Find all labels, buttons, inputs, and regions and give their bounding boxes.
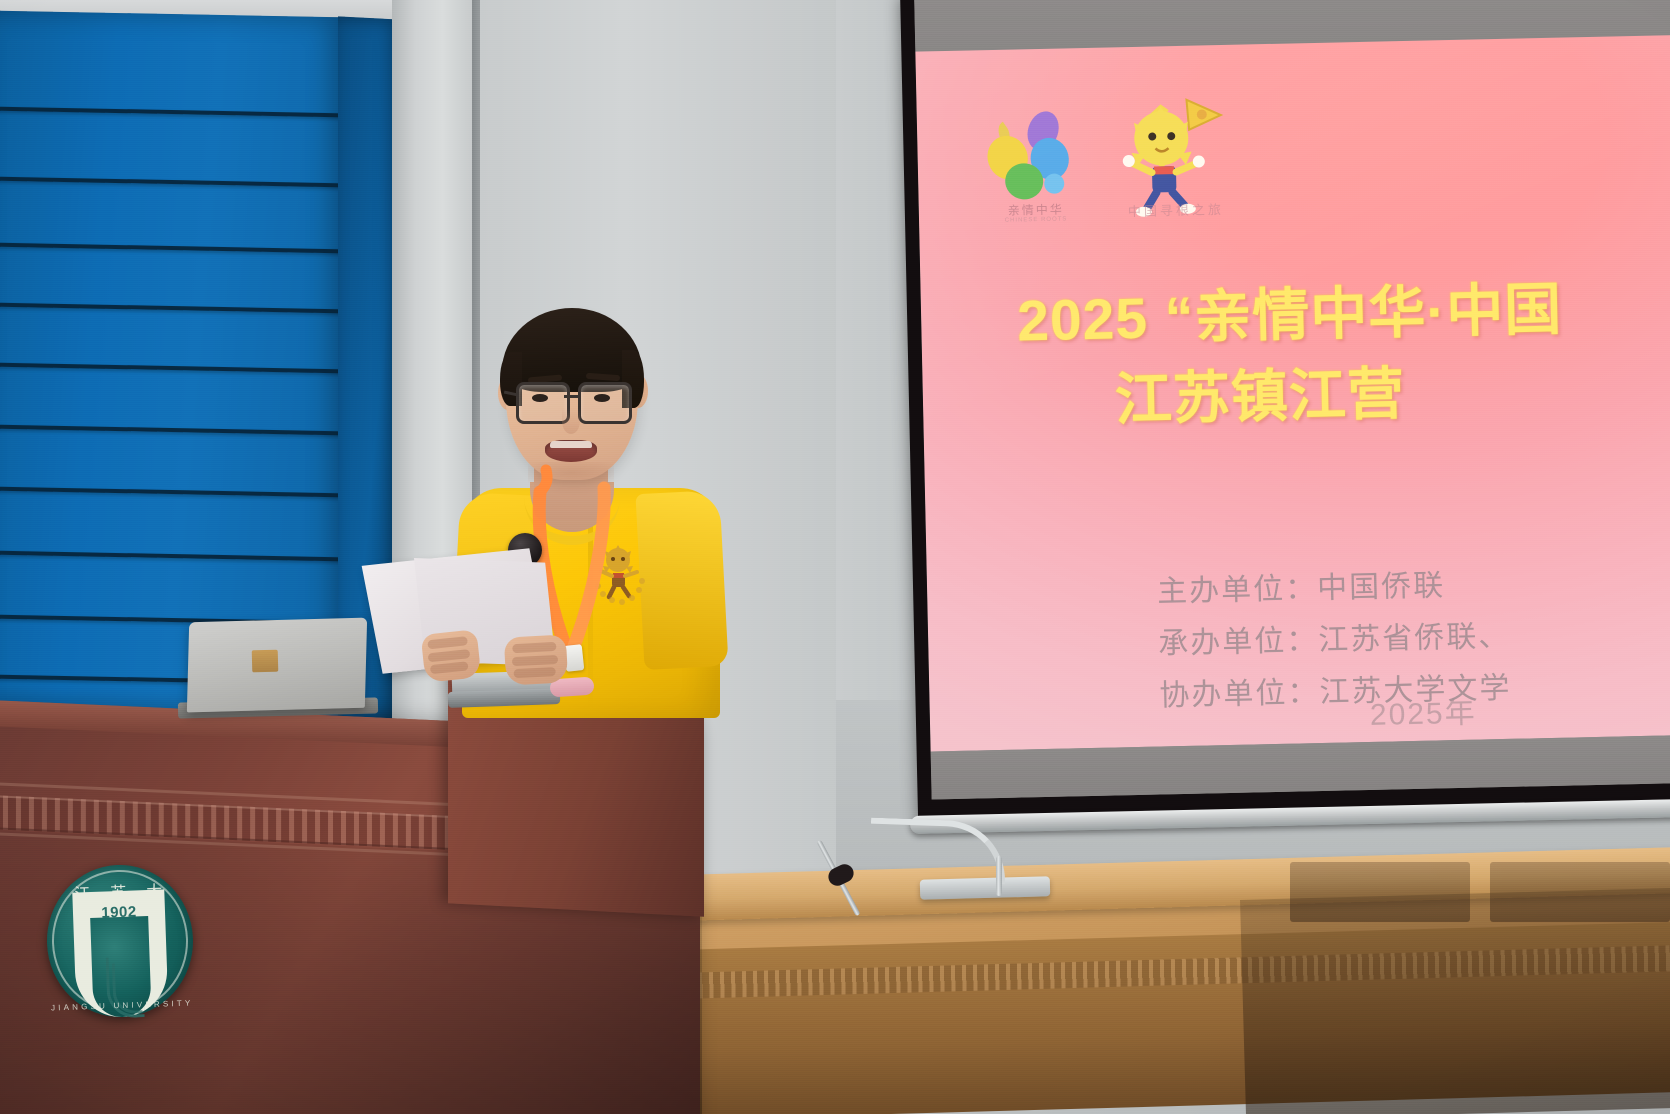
slide-date: 2025年 — [1369, 688, 1477, 734]
shirt-lion-print-icon — [592, 540, 648, 606]
presentation-slide: 亲情中华 CHINESE ROOTS — [915, 35, 1670, 752]
speaker-nose — [562, 408, 580, 434]
speaker-hand-left — [421, 629, 482, 683]
emblem-founding-year: 1902 — [73, 902, 166, 922]
photo-scene: 亲情中华 CHINESE ROOTS — [0, 0, 1670, 1114]
speaker-eye-left — [532, 394, 548, 402]
table-microphone-drop — [996, 856, 1002, 896]
speaker-chin-shadow — [528, 462, 614, 484]
speaker-eye-right — [594, 394, 610, 402]
glasses-bridge — [564, 395, 580, 398]
chair-back-left — [1290, 862, 1470, 922]
speaker-teeth — [550, 441, 592, 448]
slide-title-line2: 江苏镇江营 — [1114, 346, 1670, 441]
laptop-logo-icon — [252, 650, 279, 673]
logo-right-caption: 中国寻根之旅 — [1109, 199, 1243, 221]
slide-title: 2025 “亲情中华·中国 江苏镇江营 — [1016, 265, 1670, 443]
chair-back-right — [1490, 862, 1670, 922]
lens-right — [578, 382, 632, 424]
speaker-sleeve-right — [635, 490, 728, 670]
slide-title-line1: 2025 “亲情中华·中国 — [1017, 278, 1563, 354]
slide-logos: 亲情中华 CHINESE ROOTS — [968, 96, 1261, 232]
screen-surface: 亲情中华 CHINESE ROOTS — [914, 0, 1670, 800]
projection-screen: 亲情中华 CHINESE ROOTS — [900, 0, 1670, 850]
speaker-hand-right — [504, 634, 568, 685]
screen-frame: 亲情中华 CHINESE ROOTS — [900, 0, 1670, 818]
